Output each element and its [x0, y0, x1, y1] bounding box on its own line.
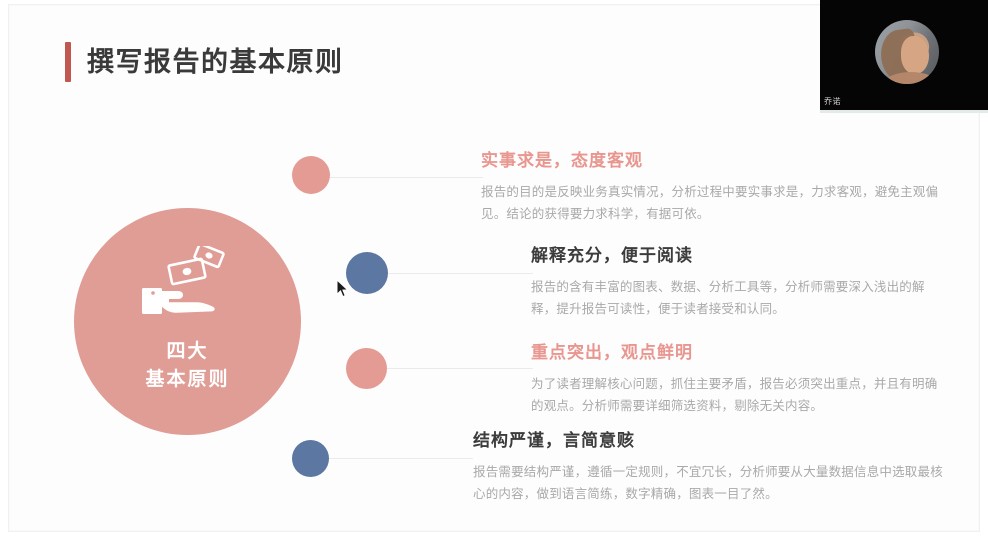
- video-participant-panel[interactable]: 乔诺: [820, 0, 988, 110]
- video-panel-underline: [820, 110, 988, 113]
- principle-title-2: 解释充分，便于阅读: [531, 245, 941, 267]
- bullet-marker-2[interactable]: [346, 252, 388, 294]
- principle-item-3: 重点突出，观点鲜明 为了读者理解核心问题，抓住主要矛盾，报告必须突出重点，并且有…: [531, 342, 943, 418]
- participant-name: 乔诺: [824, 98, 841, 106]
- screen: 撰写报告的基本原则: [0, 0, 988, 558]
- hero-label-line2: 基本原则: [145, 366, 229, 394]
- connector-line-4: [325, 458, 473, 459]
- principle-body-3: 为了读者理解核心问题，抓住主要矛盾，报告必须突出重点，并且有明确的观点。分析师需…: [531, 373, 943, 418]
- principle-title-4: 结构严谨，言简意赅: [473, 430, 945, 452]
- page-title: 撰写报告的基本原则: [65, 41, 344, 83]
- principle-body-4: 报告需要结构严谨，遵循一定规则，不宜冗长，分析师要从大量数据信息中选取最核心的内…: [473, 461, 945, 506]
- hero-label-line1: 四大: [145, 338, 229, 366]
- avatar: [875, 20, 939, 84]
- bullet-marker-3[interactable]: [346, 348, 387, 389]
- connector-line-1: [325, 177, 483, 178]
- title-accent-bar: [65, 42, 71, 82]
- principle-item-4: 结构严谨，言简意赅 报告需要结构严谨，遵循一定规则，不宜冗长，分析师要从大量数据…: [473, 430, 945, 506]
- connector-line-3: [381, 368, 533, 369]
- mouse-pointer-icon: [336, 279, 349, 298]
- principle-title-3: 重点突出，观点鲜明: [531, 342, 943, 364]
- avatar-shoulder: [885, 72, 937, 84]
- principle-item-2: 解释充分，便于阅读 报告的含有丰富的图表、数据、分析工具等，分析师需要深入浅出的…: [531, 245, 941, 321]
- principle-body-2: 报告的含有丰富的图表、数据、分析工具等，分析师需要深入浅出的解释，提升报告可读性…: [531, 276, 941, 321]
- principle-item-1: 实事求是，态度客观 报告的目的是反映业务真实情况，分析过程中要实事求是，力求客观…: [481, 150, 951, 226]
- hero-label: 四大 基本原则: [145, 338, 229, 393]
- hero-circle: 四大 基本原则: [74, 208, 301, 435]
- page-title-text: 撰写报告的基本原则: [87, 42, 344, 82]
- avatar-face: [901, 36, 929, 74]
- principle-title-1: 实事求是，态度客观: [481, 150, 951, 172]
- bullet-marker-1[interactable]: [292, 156, 330, 194]
- hand-receiving-money-icon: [140, 246, 236, 324]
- principle-body-1: 报告的目的是反映业务真实情况，分析过程中要实事求是，力求客观，避免主观偏见。结论…: [481, 181, 951, 226]
- bullet-marker-4[interactable]: [292, 440, 329, 477]
- connector-line-2: [385, 273, 533, 274]
